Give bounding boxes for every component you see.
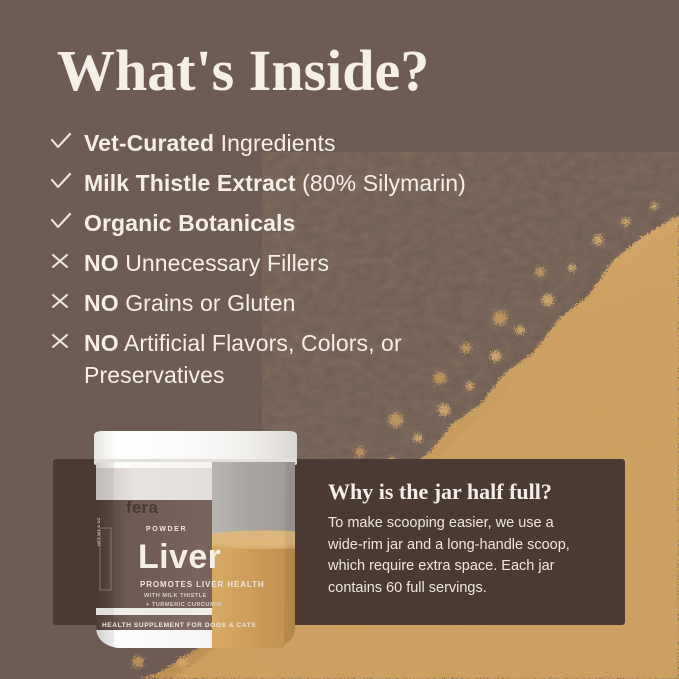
- list-item-text: NO Artificial Flavors, Colors, or Preser…: [84, 327, 464, 391]
- list-item: NO Grains or Gluten: [50, 287, 570, 319]
- list-item-rest: Ingredients: [214, 130, 335, 156]
- list-item-strong: NO: [84, 290, 119, 316]
- list-item-strong: Vet-Curated: [84, 130, 214, 156]
- list-item-strong: NO: [84, 250, 119, 276]
- list-item-rest: Unnecessary Fillers: [119, 250, 329, 276]
- list-item-strong: Organic Botanicals: [84, 210, 295, 236]
- check-icon: [50, 167, 84, 190]
- info-card-body: To make scooping easier, we use a wide-r…: [328, 513, 590, 599]
- page-title: What's Inside?: [57, 40, 429, 102]
- list-item-text: NO Unnecessary Fillers: [84, 247, 329, 279]
- infographic-canvas: What's Inside? Vet-Curated Ingredients M…: [0, 0, 679, 679]
- list-item-strong: Milk Thistle Extract: [84, 170, 296, 196]
- list-item: Organic Botanicals: [50, 207, 570, 239]
- list-item-text: Organic Botanicals: [84, 207, 295, 239]
- list-item-rest: Artificial Flavors, Colors, or Preservat…: [84, 330, 402, 388]
- list-item: NO Artificial Flavors, Colors, or Preser…: [50, 327, 570, 391]
- list-item: Milk Thistle Extract (80% Silymarin): [50, 167, 570, 199]
- list-item: Vet-Curated Ingredients: [50, 127, 570, 159]
- cross-icon: [50, 247, 84, 270]
- product-jar-image: fera POWDER Liver PROMOTES LIVER HEALTH …: [88, 428, 303, 652]
- benefits-list: Vet-Curated Ingredients Milk Thistle Ext…: [50, 127, 570, 399]
- check-icon: [50, 207, 84, 230]
- list-item-text: Milk Thistle Extract (80% Silymarin): [84, 167, 466, 199]
- list-item-text: NO Grains or Gluten: [84, 287, 296, 319]
- list-item-text: Vet-Curated Ingredients: [84, 127, 336, 159]
- list-item: NO Unnecessary Fillers: [50, 247, 570, 279]
- info-card-title: Why is the jar half full?: [328, 479, 552, 505]
- list-item-rest: (80% Silymarin): [296, 170, 466, 196]
- cross-icon: [50, 287, 84, 310]
- check-icon: [50, 127, 84, 150]
- list-item-strong: NO: [84, 330, 119, 356]
- list-item-rest: Grains or Gluten: [119, 290, 296, 316]
- cross-icon: [50, 327, 84, 350]
